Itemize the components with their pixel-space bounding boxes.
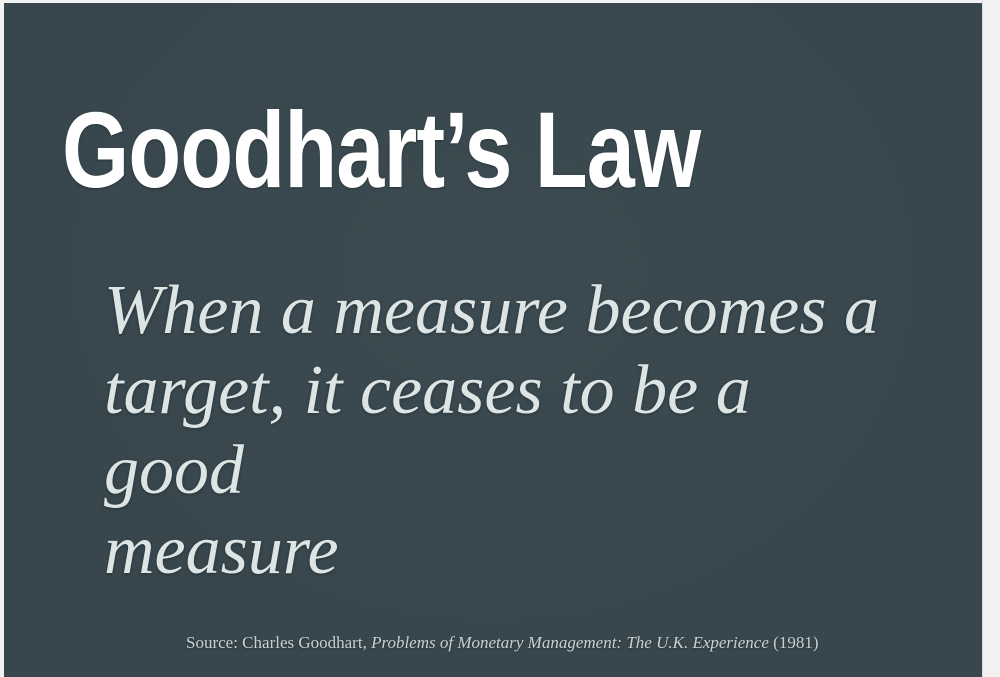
source-book-title: Problems of Monetary Management: The U.K… [371, 633, 769, 652]
top-margin-strip [0, 0, 1000, 3]
page-title: Goodhart’s Law [62, 93, 700, 207]
source-citation: Source: Charles Goodhart, Problems of Mo… [186, 633, 818, 653]
source-prefix: Source: Charles Goodhart, [186, 633, 371, 652]
right-margin-strip [982, 0, 1000, 677]
quote-block: When a measure becomes a target, it ceas… [104, 271, 904, 591]
quote-line-2: target, it ceases to be a good [104, 351, 904, 511]
quote-line-1: When a measure becomes a [104, 271, 904, 351]
quote-line-3: measure [104, 511, 904, 591]
left-margin-strip [0, 0, 4, 677]
presentation-slide: Goodhart’s Law When a measure becomes a … [4, 3, 982, 677]
slide-page: Goodhart’s Law When a measure becomes a … [0, 0, 1000, 677]
source-year: (1981) [769, 633, 819, 652]
